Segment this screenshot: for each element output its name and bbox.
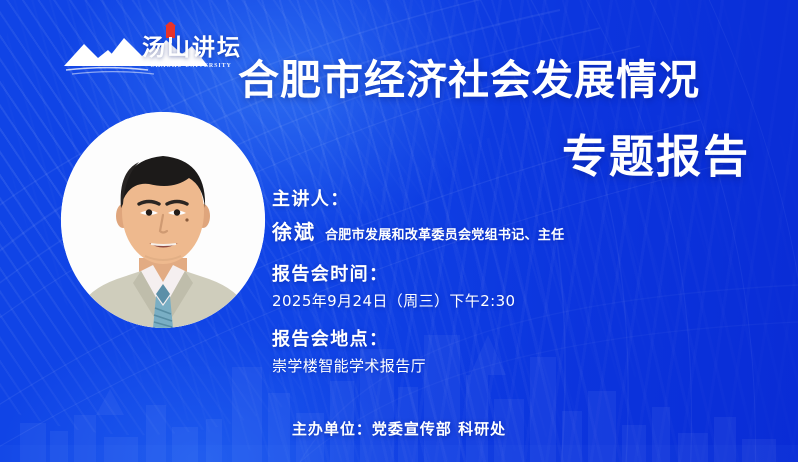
- spacer: [272, 245, 752, 265]
- logo[interactable]: 汤山讲坛 CHAOHU UNIVERSITY: [62, 22, 238, 78]
- speaker-title: 合肥市发展和改革委员会党组书记、主任: [325, 224, 564, 243]
- event-details: 主讲人： 徐斌 合肥市发展和改革委员会党组书记、主任 报告会时间： 2025年9…: [272, 190, 752, 375]
- time-value: 2025年9月24日（周三）下午2:30: [272, 292, 752, 310]
- speaker-row: 徐斌 合肥市发展和改革委员会党组书记、主任: [272, 216, 752, 245]
- logo-wordmark-cn: 汤山讲坛: [142, 28, 242, 62]
- event-poster: 汤山讲坛 CHAOHU UNIVERSITY: [0, 0, 798, 462]
- speaker-label: 主讲人：: [272, 190, 752, 210]
- spacer: [272, 310, 752, 330]
- page-title-line2: 专题报告: [562, 134, 750, 179]
- speaker-portrait: [61, 112, 265, 328]
- place-value: 崇学楼智能学术报告厅: [272, 357, 752, 375]
- organizer-footer: 主办单位：党委宣传部 科研处: [0, 418, 798, 439]
- portrait-illustration: [61, 112, 265, 328]
- time-label: 报告会时间：: [272, 265, 752, 285]
- page-title-line1: 合肥市经济社会发展情况: [238, 60, 700, 101]
- place-label: 报告会地点：: [272, 330, 752, 350]
- speaker-name: 徐斌: [272, 216, 316, 245]
- logo-wordmark-en: CHAOHU UNIVERSITY: [146, 63, 236, 69]
